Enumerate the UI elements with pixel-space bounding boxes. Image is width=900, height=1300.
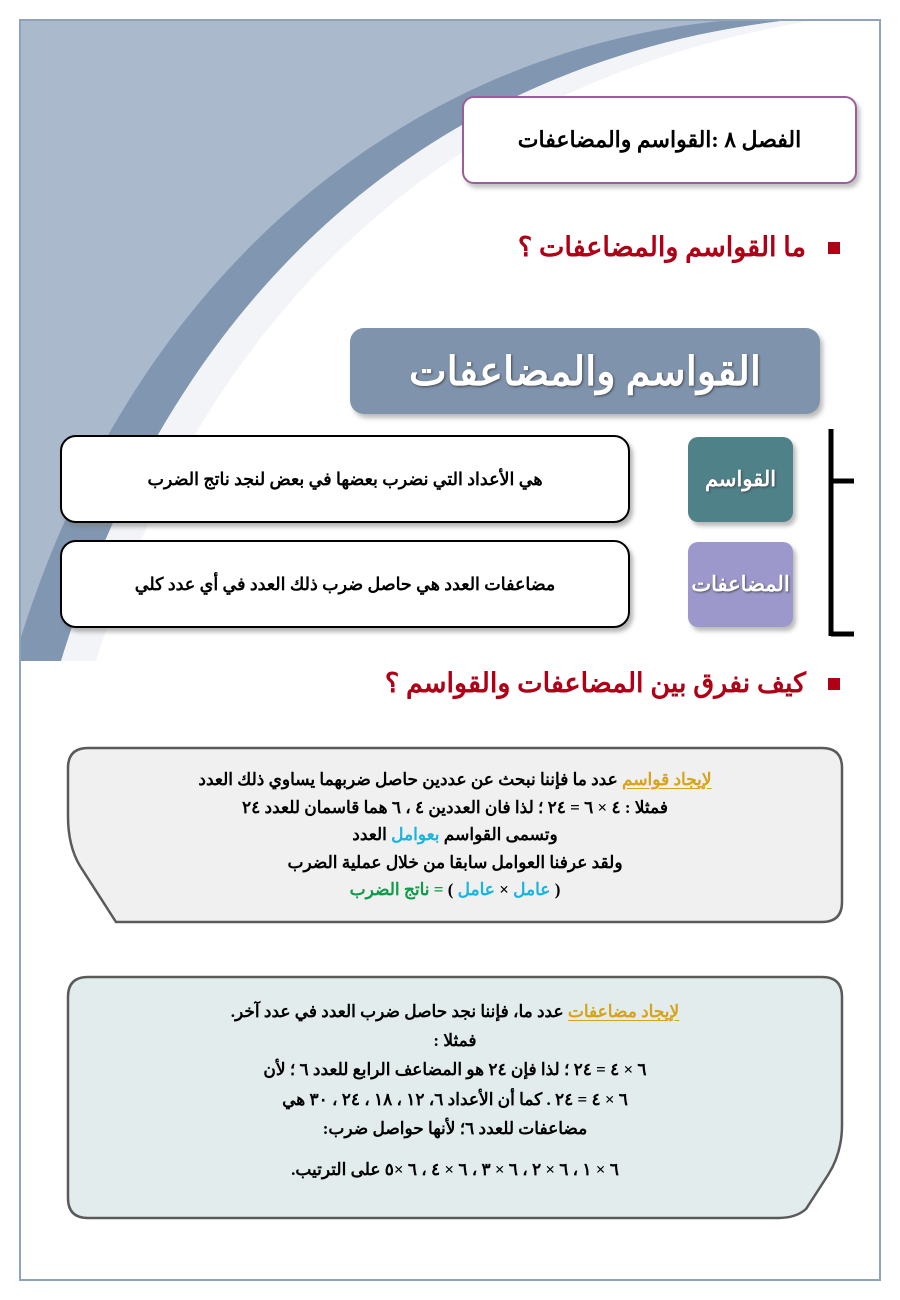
- formula-open-paren: (: [550, 880, 560, 899]
- callout-multiples-line-6: ٦ × ١ ، ٦ × ٢ ، ٦ × ٣ ، ٦ × ٤ ، ٦ ×٥ على…: [106, 1155, 804, 1184]
- category-label-multiples: المضاعفات: [691, 572, 789, 597]
- keyword-find-divisors: لإيجاد قواسم: [622, 770, 712, 789]
- topic-banner: القواسم والمضاعفات: [350, 328, 820, 414]
- chapter-title-box: الفصل ٨ :القواسم والمضاعفات: [462, 96, 857, 184]
- callout-multiples-line-5: مضاعفات للعدد ٦؛ لأنها حواصل ضرب:: [106, 1114, 804, 1143]
- callout-divisors-formula: ( عامل × عامل ) = ناتج الضرب: [100, 876, 810, 904]
- callout-divisors-line-3-b: العدد: [352, 825, 391, 844]
- callout-divisors-line-4: ولقد عرفنا العوامل سابقا من خلال عملية ا…: [100, 849, 810, 877]
- callout-divisors-line-3-a: وتسمى القواسم: [440, 825, 558, 844]
- category-box-divisors: القواسم: [688, 437, 793, 522]
- definition-box-multiples: مضاعفات العدد هي حاصل ضرب ذلك العدد في أ…: [60, 540, 630, 628]
- definition-text-divisors: هي الأعداد التي نضرب بعضها في بعض لنجد ن…: [147, 468, 542, 491]
- slide-page: الفصل ٨ :القواسم والمضاعفات ما القواسم و…: [0, 0, 900, 1300]
- callout-multiples: لإيجاد مضاعفات عدد ما، فإننا نجد حاصل ضر…: [66, 975, 844, 1220]
- callout-multiples-line-1: لإيجاد مضاعفات عدد ما، فإننا نجد حاصل ضر…: [106, 997, 804, 1026]
- callout-multiples-line-1-rest: عدد ما، فإننا نجد حاصل ضرب العدد في عدد …: [231, 1002, 568, 1021]
- square-bullet-icon: [828, 242, 840, 254]
- question-heading-difference-text: كيف نفرق بين المضاعفات والقواسم ؟: [385, 668, 806, 699]
- question-heading-what: ما القواسم والمضاعفات ؟: [518, 232, 840, 263]
- category-label-divisors: القواسم: [705, 467, 776, 492]
- callout-multiples-content: لإيجاد مضاعفات عدد ما، فإننا نجد حاصل ضر…: [66, 975, 844, 1202]
- callout-divisors-line-2: فمثلا : ٤ × ٦ = ٢٤ ؛ لذا فان العددين ٤ ،…: [100, 794, 810, 822]
- callout-divisors-line-1-rest: عدد ما فإننا نبحث عن عددين حاصل ضربهما ي…: [198, 770, 622, 789]
- definition-text-multiples: مضاعفات العدد هي حاصل ضرب ذلك العدد في أ…: [135, 573, 556, 596]
- definition-box-divisors: هي الأعداد التي نضرب بعضها في بعض لنجد ن…: [60, 435, 630, 523]
- callout-multiples-line-4: ٦ × ٤ = ٢٤ . كما أن الأعداد ٦، ١٢ ، ١٨ ،…: [106, 1085, 804, 1114]
- question-heading-difference: كيف نفرق بين المضاعفات والقواسم ؟: [385, 668, 840, 699]
- callout-multiples-line-3: ٦ × ٤ = ٢٤ ؛ لذا فإن ٢٤ هو المضاعف الراب…: [106, 1055, 804, 1084]
- callout-divisors-content: لإيجاد قواسم عدد ما فإننا نبحث عن عددين …: [66, 746, 844, 922]
- keyword-find-multiples: لإيجاد مضاعفات: [568, 1002, 679, 1021]
- formula-factor-2: عامل: [458, 880, 495, 899]
- formula-factor-1: عامل: [513, 880, 550, 899]
- question-heading-what-text: ما القواسم والمضاعفات ؟: [518, 232, 806, 263]
- callout-multiples-line-2: فمثلا :: [106, 1026, 804, 1055]
- keyword-factors: بعوامل: [391, 825, 439, 844]
- formula-times-sign: ×: [495, 880, 513, 899]
- category-box-multiples: المضاعفات: [688, 542, 793, 627]
- callout-divisors-line-3: وتسمى القواسم بعوامل العدد: [100, 821, 810, 849]
- concept-diagram: القواسم المضاعفات هي الأعداد التي نضرب ب…: [0, 425, 900, 640]
- formula-result: = ناتج الضرب: [350, 880, 444, 899]
- square-bullet-icon: [828, 678, 840, 690]
- callout-divisors: لإيجاد قواسم عدد ما فإننا نبحث عن عددين …: [66, 746, 844, 924]
- formula-close-paren: ): [443, 880, 457, 899]
- bracket-connector-icon: [807, 425, 855, 640]
- callout-multiples-spacer: [106, 1143, 804, 1155]
- topic-banner-text: القواسم والمضاعفات: [409, 348, 761, 395]
- chapter-title-text: الفصل ٨ :القواسم والمضاعفات: [518, 127, 801, 153]
- callout-divisors-line-1: لإيجاد قواسم عدد ما فإننا نبحث عن عددين …: [100, 766, 810, 794]
